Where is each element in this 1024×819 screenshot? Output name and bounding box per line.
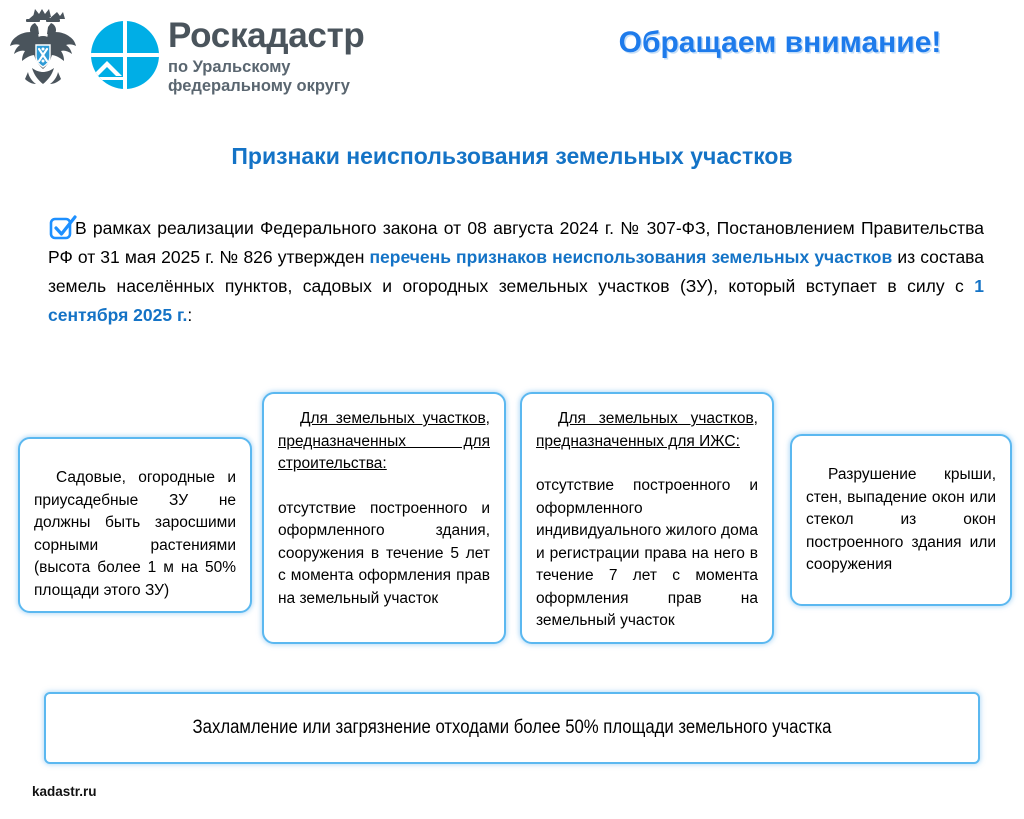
criterion-card-izhs-plots: Для земельных участков, предназначенных … — [520, 392, 774, 644]
banner-text: Захламление или загрязнение отходами бол… — [193, 717, 832, 739]
logo-subtitle-line2: федеральному округу — [168, 77, 528, 96]
page-header: Роскадастр по Уральскому федеральному ок… — [0, 0, 1024, 120]
intro-text-part3: : — [187, 305, 192, 325]
footer-website-link[interactable]: kadastr.ru — [32, 784, 97, 799]
criterion-card-garden-plots-weeds: Садовые, огородные и приусадебные ЗУ не … — [18, 437, 252, 613]
logo-title: Роскадастр — [168, 18, 528, 53]
card-body: отсутствие построенного и оформленного и… — [536, 475, 758, 633]
criterion-card-building-destruction: Разрушение крыши, стен, выпадение окон и… — [790, 434, 1012, 606]
card-heading: Для земельных участков, предназначенных … — [278, 408, 490, 476]
page-title: Признаки неиспользования земельных участ… — [0, 143, 1024, 170]
logo-wordmark: Роскадастр по Уральскому федеральному ок… — [168, 18, 528, 97]
card-body: Разрушение крыши, стен, выпадение окон и… — [806, 450, 996, 577]
criterion-card-construction-plots: Для земельных участков, предназначенных … — [262, 392, 506, 644]
logo-subtitle: по Уральскому федеральному округу — [168, 58, 528, 97]
attention-title: Обращаем внимание! — [560, 26, 1000, 60]
card-body: Садовые, огородные и приусадебные ЗУ не … — [34, 453, 236, 602]
card-body: отсутствие построенного и оформленного з… — [278, 498, 490, 611]
russian-double-headed-eagle-emblem — [8, 6, 78, 98]
logo-subtitle-line1: по Уральскому — [168, 58, 528, 77]
criterion-banner-waste-pollution: Захламление или загрязнение отходами бол… — [44, 692, 980, 764]
intro-paragraph: В рамках реализации Федерального закона … — [48, 214, 984, 330]
card-heading: Для земельных участков, предназначенных … — [536, 408, 758, 453]
checkbox-checked-icon — [48, 217, 74, 239]
roskadastr-circle-house-logo — [90, 20, 160, 90]
intro-accent-registry: перечень признаков неиспользования земел… — [369, 247, 892, 267]
